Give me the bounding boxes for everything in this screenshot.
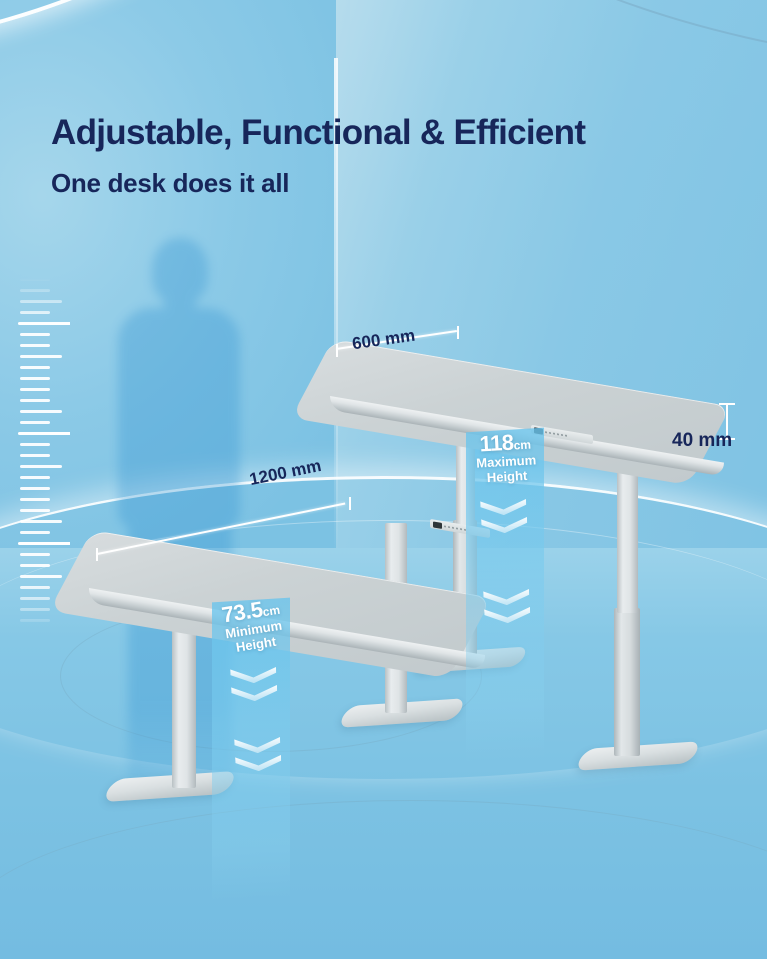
thickness-dimension-label: 40 mm [672, 430, 732, 452]
chevron-down-icon [483, 589, 537, 628]
chevron-arrow [231, 685, 278, 702]
page-subtitle: One desk does it all [51, 168, 289, 199]
ruler-tick-minor [20, 388, 50, 391]
chevron-down-icon [480, 499, 534, 538]
chevron-down-icon [234, 737, 288, 776]
ruler-tick-minor [20, 586, 50, 589]
desk-raised-leg-front-lower [614, 608, 640, 756]
ruler-tick-minor [20, 443, 50, 446]
height-ruler [6, 278, 70, 630]
ruler-tick-minor [20, 421, 50, 424]
chevron-arrow [235, 755, 282, 772]
ruler-tick-minor [20, 509, 50, 512]
control-panel-button[interactable] [545, 431, 547, 433]
ruler-tick-minor [20, 289, 50, 292]
ruler-tick-minor [20, 344, 50, 347]
control-panel-button[interactable] [460, 528, 462, 530]
ruler-tick-minor [20, 487, 50, 490]
ruler-tick-minor [20, 520, 62, 523]
ruler-tick-minor [20, 454, 50, 457]
ruler-tick-minor [20, 333, 50, 336]
product-infographic: 118cm Maximum Height 73.5cm Minimum Heig… [0, 0, 767, 959]
ruler-tick-minor [20, 619, 50, 622]
control-panel-button[interactable] [444, 525, 446, 527]
silhouette-torso [118, 308, 240, 528]
control-panel-button[interactable] [448, 525, 450, 527]
ruler-tick-minor [20, 377, 50, 380]
chevron-arrow [484, 607, 531, 624]
ruler-tick-minor [20, 608, 50, 611]
control-panel-button[interactable] [565, 434, 567, 436]
min-height-unit: cm [262, 603, 281, 620]
control-panel-button[interactable] [557, 433, 559, 435]
ruler-tick-minor [20, 476, 50, 479]
ruler-tick-minor [20, 597, 50, 600]
control-panel-button[interactable] [553, 432, 555, 434]
ruler-tick-minor [20, 553, 50, 556]
ruler-tick-minor [20, 399, 50, 402]
page-title: Adjustable, Functional & Efficient [51, 113, 585, 153]
ruler-tick-minor [20, 300, 62, 303]
depth-dimension-cap-end [457, 326, 459, 339]
control-panel-button[interactable] [452, 526, 454, 528]
ruler-tick-minor [20, 355, 62, 358]
ruler-tick-minor [20, 311, 50, 314]
control-panel-button[interactable] [549, 431, 551, 433]
ruler-tick-minor [20, 465, 62, 468]
control-panel-display [433, 521, 442, 529]
chevron-arrow [483, 589, 530, 606]
ruler-tick-minor [20, 531, 50, 534]
control-panel-button[interactable] [561, 433, 563, 435]
chevron-down-icon [230, 667, 284, 706]
max-height-badge: 118cm Maximum Height [465, 430, 548, 485]
ruler-tick-minor [20, 564, 50, 567]
ruler-tick-minor [20, 575, 62, 578]
ruler-tick-minor [20, 366, 50, 369]
chevron-arrow [480, 499, 527, 516]
max-height-value: 118 [479, 430, 514, 457]
ruler-tick-minor [20, 410, 62, 413]
width-dimension-cap-start [96, 548, 98, 561]
width-dimension-cap-end [349, 497, 351, 510]
chevron-arrow [481, 517, 528, 534]
chevron-arrow [234, 737, 281, 754]
depth-dimension-cap-start [336, 344, 338, 357]
ruler-tick-minor [20, 498, 50, 501]
chevron-arrow [230, 667, 277, 684]
thickness-dimension-cap-top [719, 403, 735, 405]
max-height-unit: cm [513, 438, 531, 453]
desk-raised-leg-front-upper [617, 455, 638, 613]
ruler-tick-minor [20, 278, 50, 281]
control-panel-button[interactable] [456, 527, 458, 529]
